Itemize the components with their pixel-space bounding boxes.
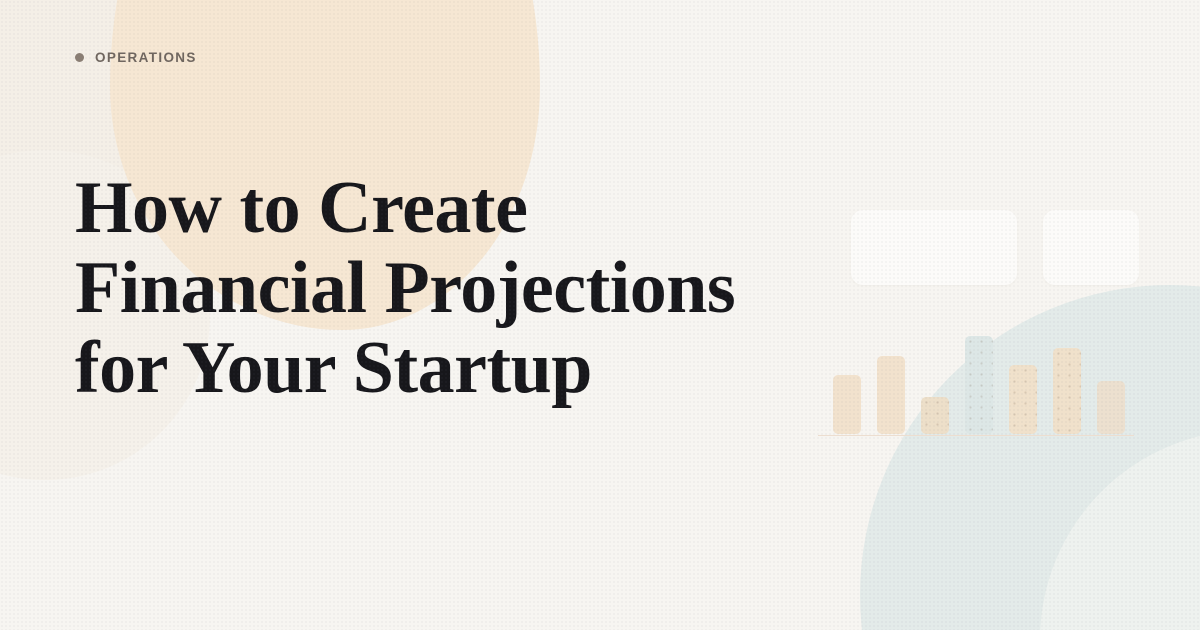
bar-chart (810, 310, 1170, 460)
decorative-illustration (810, 180, 1170, 480)
chart-bar (965, 336, 993, 434)
category-eyebrow: OPERATIONS (75, 50, 197, 65)
og-banner-canvas: OPERATIONS How to Create Financial Proje… (0, 0, 1200, 630)
placeholder-card-wide (851, 210, 1017, 285)
placeholder-card-narrow (1043, 210, 1139, 285)
chart-bar (877, 356, 905, 434)
content-block: OPERATIONS How to Create Financial Proje… (75, 0, 795, 630)
page-title-line-1: How to Create (75, 168, 775, 248)
page-title: How to Create Financial Projections for … (75, 168, 775, 408)
chart-baseline (818, 435, 1134, 437)
chart-bar (1097, 381, 1125, 434)
chart-bar (833, 375, 861, 434)
chart-bar (1053, 348, 1081, 434)
category-label: OPERATIONS (95, 50, 197, 65)
chart-bar (1009, 365, 1037, 434)
page-title-line-3: for Your Startup (75, 328, 775, 408)
bullet-dot-icon (75, 53, 84, 62)
page-title-line-2: Financial Projections (75, 248, 775, 328)
chart-bar (921, 397, 949, 434)
